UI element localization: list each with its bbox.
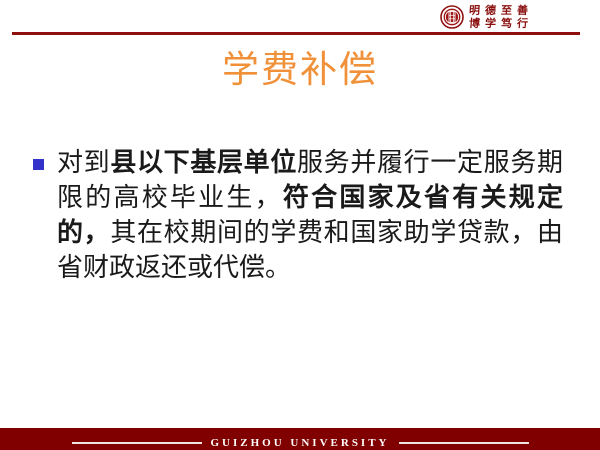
footer-university-name: GUIZHOU UNIVERSITY <box>211 437 390 449</box>
footer-rule-right <box>399 442 529 444</box>
motto-line-2: 博学笃行 <box>469 17 534 30</box>
slide-canvas: 明德至善 博学笃行 学费补偿 对到县以下基层单位服务并履行一定服务期限的高校毕业… <box>0 0 600 450</box>
footer-rule-left <box>72 442 202 444</box>
university-logo: 明德至善 博学笃行 <box>440 3 570 31</box>
body-text-segment-3: 其在校期间的学费和国家助学贷款，由省财政返还或代偿。 <box>57 218 563 283</box>
body-text-emphasis-1: 县以下基层单位 <box>110 148 297 178</box>
body-paragraph: 对到县以下基层单位服务并履行一定服务期限的高校毕业生，符合国家及省有关规定的，其… <box>57 146 563 286</box>
bullet-list-item: 对到县以下基层单位服务并履行一定服务期限的高校毕业生，符合国家及省有关规定的，其… <box>33 146 563 286</box>
motto-line-1: 明德至善 <box>469 4 534 17</box>
university-motto: 明德至善 博学笃行 <box>469 4 533 30</box>
page-title: 学费补偿 <box>0 48 600 92</box>
slide-footer: GUIZHOU UNIVERSITY <box>0 436 600 450</box>
slide-header: 明德至善 博学笃行 <box>0 0 600 38</box>
header-divider-rule <box>12 32 580 35</box>
university-seal-icon <box>440 5 464 29</box>
square-bullet-icon <box>33 159 44 170</box>
body-text-segment-1: 对到 <box>57 148 110 178</box>
